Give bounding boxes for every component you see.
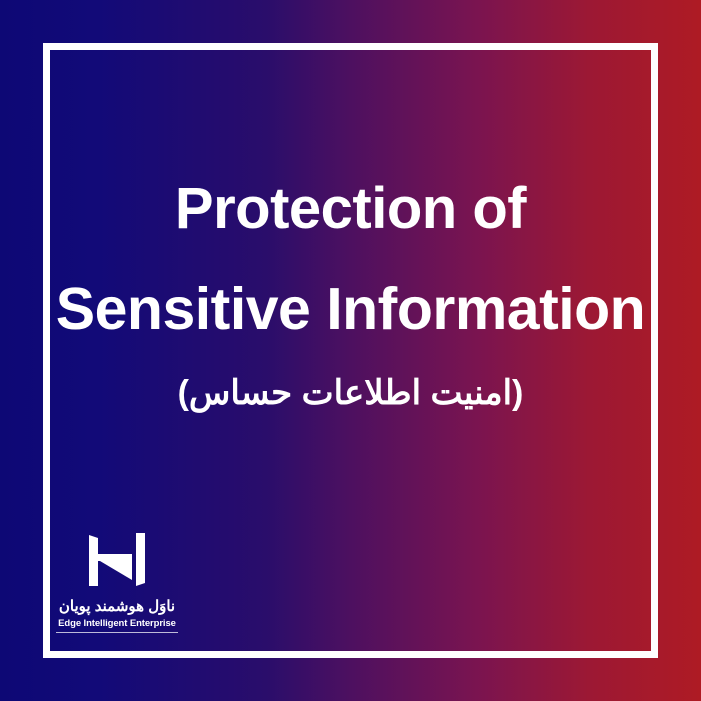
page-title-line-2: Sensitive Information xyxy=(50,280,651,339)
logo-company-name-persian: ناوَل هوشمند پویان xyxy=(56,598,178,617)
page-subtitle-persian: (امنیت اطلاعات حساس) xyxy=(50,373,651,414)
title-block: Protection of Sensitive Information (امن… xyxy=(50,180,651,414)
page-title-line-1: Protection of xyxy=(50,180,651,238)
title-slide: Protection of Sensitive Information (امن… xyxy=(0,0,701,701)
navel-monogram-icon xyxy=(84,528,150,590)
logo-tagline-english: Edge Intelligent Enterprise xyxy=(56,618,178,633)
logo-lockup: ناوَل هوشمند پویان Edge Intelligent Ente… xyxy=(56,528,178,633)
